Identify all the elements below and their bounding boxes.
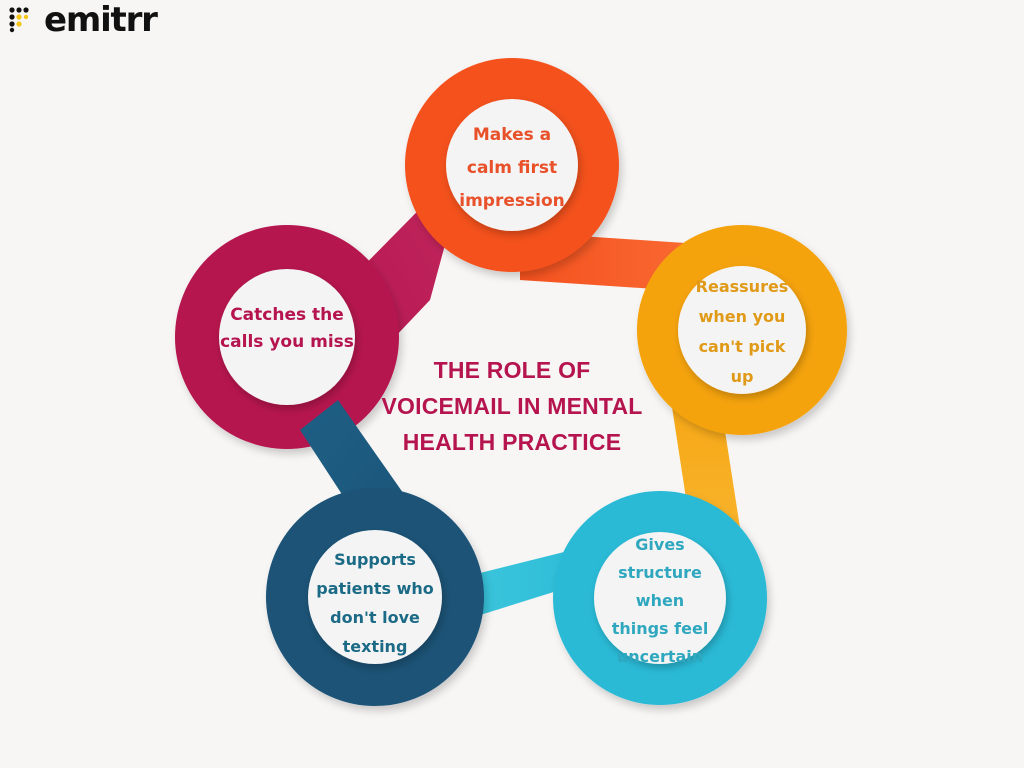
node-label-calm-first-impression-line1: Makes a <box>473 125 551 145</box>
center-title-line3: HEALTH PRACTICE <box>403 429 622 455</box>
node-calm-first-impression[interactable]: Makes a calm first impression <box>428 81 700 292</box>
center-title: THE ROLE OF VOICEMAIL IN MENTAL HEALTH P… <box>381 357 642 455</box>
node-label-gives-structure-line1: Gives <box>635 535 684 554</box>
center-title-line1: THE ROLE OF <box>434 357 591 383</box>
node-label-catches-missed-calls-line2: calls you miss <box>220 332 354 352</box>
node-label-catches-missed-calls-line1: Catches the <box>230 305 344 325</box>
node-label-supports-patients-line2: patients who <box>316 579 434 598</box>
node-label-reassures-line1: Reassures <box>696 277 789 296</box>
center-title-line2: VOICEMAIL IN MENTAL <box>381 393 642 419</box>
node-label-gives-structure-line5: uncertain <box>617 647 703 666</box>
node-label-calm-first-impression-line3: impression <box>459 191 564 211</box>
node-label-supports-patients-line3: don't love <box>330 608 420 627</box>
node-label-calm-first-impression-line2: calm first <box>467 158 557 178</box>
node-label-reassures-line4: up <box>731 367 754 386</box>
node-label-reassures-line2: when you <box>699 307 786 326</box>
voicemail-role-diagram: Catches the calls you miss Makes a calm … <box>0 0 1024 768</box>
node-label-gives-structure-line2: structure <box>618 563 702 582</box>
node-label-supports-patients-line4: texting <box>343 637 408 656</box>
node-label-gives-structure-line4: things feel <box>612 619 709 638</box>
node-label-reassures-line3: can't pick <box>699 337 786 356</box>
node-label-supports-patients-line1: Supports <box>334 550 416 569</box>
node-label-gives-structure-line3: when <box>636 591 684 610</box>
